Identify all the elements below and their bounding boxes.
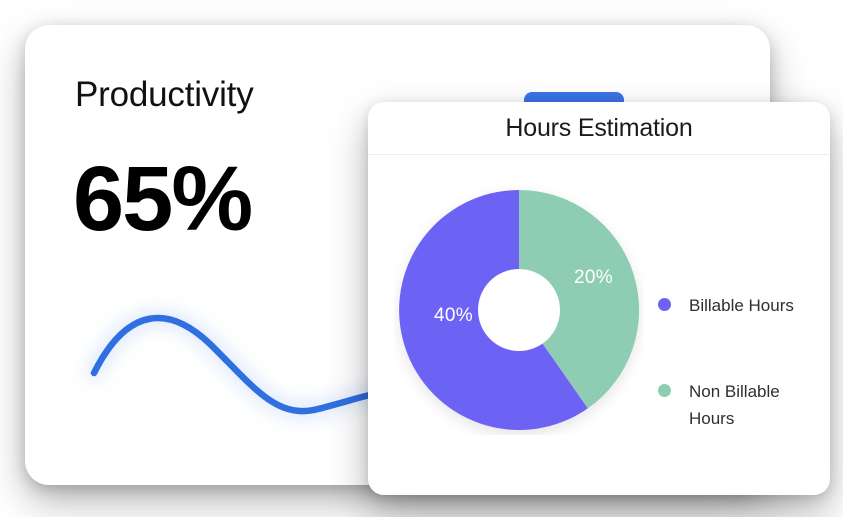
legend-item-non-billable[interactable]: Non Billable Hours [658, 379, 818, 432]
page-title: Productivity [75, 77, 254, 112]
legend-dot-non-billable-icon [658, 384, 671, 397]
hours-estimation-header: Hours Estimation [368, 102, 830, 155]
legend-item-billable[interactable]: Billable Hours [658, 293, 818, 319]
chart-legend: Billable Hours Non Billable Hours [658, 293, 818, 432]
hours-estimation-body: 40% 20% Billable Hours Non Billable Hour… [368, 155, 830, 495]
legend-label-billable: Billable Hours [689, 293, 794, 319]
legend-label-non-billable: Non Billable Hours [689, 379, 818, 432]
hours-estimation-card: Hours Estimation [368, 102, 830, 495]
productivity-value: 65% [73, 153, 251, 245]
donut-chart-svg [394, 185, 644, 435]
legend-dot-billable-icon [658, 298, 671, 311]
hours-estimation-title: Hours Estimation [505, 114, 692, 143]
screenshot-stage: Productivity 65% 2021 2022 Hours [0, 0, 843, 517]
donut-chart: 40% 20% [394, 185, 644, 435]
donut-hole [478, 269, 560, 351]
